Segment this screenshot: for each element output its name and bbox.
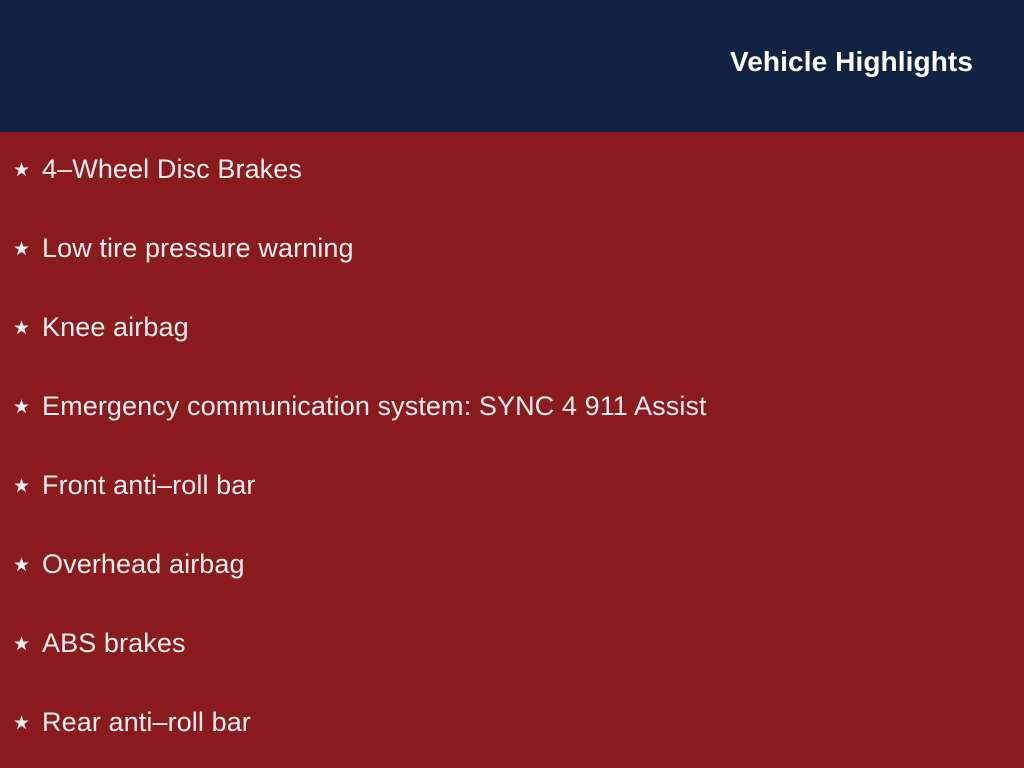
list-item: ★ Overhead airbag <box>11 545 1004 585</box>
slide-header-bar: Vehicle Highlights <box>0 0 1024 132</box>
list-item-label: ABS brakes <box>42 628 186 659</box>
star-bullet-icon: ★ <box>11 714 42 733</box>
star-bullet-icon: ★ <box>11 240 42 259</box>
vehicle-highlights-slide: Vehicle Highlights ★ 4–Wheel Disc Brakes… <box>0 0 1024 768</box>
star-bullet-icon: ★ <box>11 635 42 654</box>
list-item-label: Rear anti–roll bar <box>42 707 251 738</box>
star-bullet-icon: ★ <box>11 161 42 180</box>
list-item: ★ Emergency communication system: SYNC 4… <box>11 387 1004 427</box>
list-item: ★ ABS brakes <box>11 624 1004 664</box>
page-title: Vehicle Highlights <box>730 48 973 76</box>
list-item-label: Overhead airbag <box>42 549 245 580</box>
list-item: ★ Knee airbag <box>11 308 1004 348</box>
star-bullet-icon: ★ <box>11 319 42 338</box>
vehicle-highlights-list: ★ 4–Wheel Disc Brakes ★ Low tire pressur… <box>0 132 1024 768</box>
star-bullet-icon: ★ <box>11 556 42 575</box>
list-item: ★ Rear anti–roll bar <box>11 703 1004 743</box>
list-item: ★ 4–Wheel Disc Brakes <box>11 150 1004 190</box>
list-item-label: 4–Wheel Disc Brakes <box>42 154 302 185</box>
list-item: ★ Front anti–roll bar <box>11 466 1004 506</box>
list-item-label: Low tire pressure warning <box>42 233 354 264</box>
list-item: ★ Low tire pressure warning <box>11 229 1004 269</box>
list-item-label: Front anti–roll bar <box>42 470 256 501</box>
list-item-label: Emergency communication system: SYNC 4 9… <box>42 391 707 422</box>
star-bullet-icon: ★ <box>11 398 42 417</box>
list-item-label: Knee airbag <box>42 312 189 343</box>
star-bullet-icon: ★ <box>11 477 42 496</box>
